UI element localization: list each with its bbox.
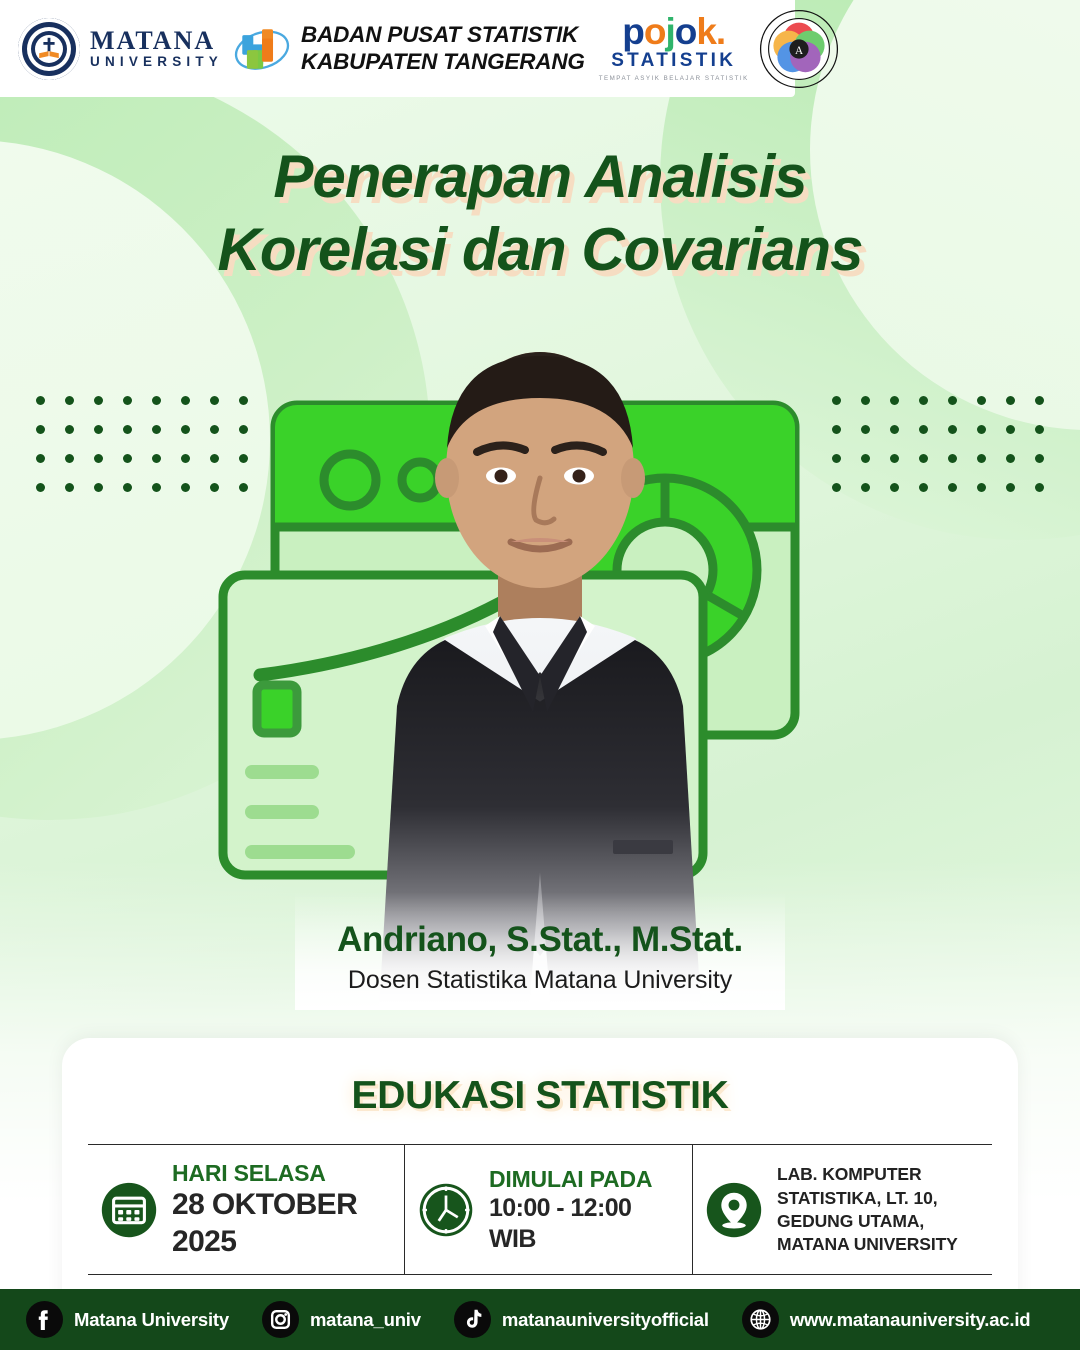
- dot-grid-left: [36, 396, 248, 492]
- bps-wordmark: BADAN PUSAT STATISTIK KABUPATEN TANGERAN…: [301, 22, 585, 74]
- pojok-statistik-logo: pojok. STATISTIK TEMPAT ASYIK BELAJAR ST…: [599, 15, 749, 82]
- footer-social-bar: Matana University matana_univ matana: [0, 1289, 1080, 1350]
- event-location-line3: GEDUNG UTAMA,: [777, 1210, 958, 1233]
- speaker-name: Andriano, S.Stat., M.Stat.: [0, 920, 1080, 960]
- speaker-name-block: Andriano, S.Stat., M.Stat. Dosen Statist…: [0, 920, 1080, 995]
- poster-title-line2: Korelasi dan Covarians: [0, 213, 1080, 286]
- event-location-text: LAB. KOMPUTER STATISTIKA, LT. 10, GEDUNG…: [777, 1163, 958, 1255]
- bps-logo-icon: [233, 20, 291, 78]
- bps-wordmark-line2: KABUPATEN TANGERANG: [301, 49, 585, 75]
- facebook-handle[interactable]: Matana University: [74, 1309, 229, 1331]
- event-year-value: 2025: [172, 1224, 357, 1261]
- matana-wordmark-line1: MATANA: [90, 28, 223, 54]
- tiktok-handle[interactable]: matanauniversityofficial: [502, 1309, 709, 1331]
- matana-wordmark: MATANA UNIVERSITY: [90, 28, 223, 69]
- event-time-value: 10:00 - 12:00 WIB: [489, 1193, 680, 1254]
- matana-wordmark-line2: UNIVERSITY: [90, 55, 223, 69]
- dot-grid-right: [832, 396, 1044, 492]
- speaker-photo: [295, 320, 785, 1010]
- social-website[interactable]: www.matanauniversity.ac.id: [742, 1301, 1031, 1338]
- event-date-text: HARI SELASA 28 OKTOBER 2025: [172, 1159, 357, 1260]
- globe-icon[interactable]: [742, 1301, 779, 1338]
- speaker-role: Dosen Statistika Matana University: [0, 966, 1080, 995]
- location-pin-icon: [705, 1181, 763, 1239]
- pojok-wordmark: pojok.: [599, 15, 749, 49]
- poster-title-line1: Penerapan Analisis: [0, 140, 1080, 213]
- event-day-label: HARI SELASA: [172, 1159, 357, 1187]
- bps-wordmark-line1: BADAN PUSAT STATISTIK: [301, 22, 585, 48]
- matana-university-seal-icon: [18, 18, 80, 80]
- social-instagram[interactable]: matana_univ: [262, 1301, 421, 1338]
- header-logo-bar: MATANA UNIVERSITY BADAN PUSAT STATISTIK …: [0, 0, 795, 97]
- poster-canvas: MATANA UNIVERSITY BADAN PUSAT STATISTIK …: [0, 0, 1080, 1350]
- instagram-icon[interactable]: [262, 1301, 299, 1338]
- poster-title: Penerapan Analisis Korelasi dan Covarian…: [0, 140, 1080, 286]
- event-location-column: LAB. KOMPUTER STATISTIKA, LT. 10, GEDUNG…: [693, 1145, 992, 1274]
- event-category-title: EDUKASI STATISTIK: [62, 1074, 1018, 1118]
- event-time-text: DIMULAI PADA 10:00 - 12:00 WIB: [489, 1165, 680, 1254]
- anastasis-logo-icon: A: [759, 9, 839, 89]
- pojok-tagline: TEMPAT ASYIK BELAJAR STATISTIK: [599, 75, 749, 82]
- instagram-handle[interactable]: matana_univ: [310, 1309, 421, 1331]
- event-location-line4: MATANA UNIVERSITY: [777, 1233, 958, 1256]
- pojok-statistik-label: STATISTIK: [599, 50, 749, 72]
- clock-icon: [417, 1181, 475, 1239]
- event-time-column: DIMULAI PADA 10:00 - 12:00 WIB: [404, 1145, 693, 1274]
- social-tiktok[interactable]: matanauniversityofficial: [454, 1301, 709, 1338]
- event-time-label: DIMULAI PADA: [489, 1165, 680, 1193]
- svg-text:A: A: [795, 44, 803, 56]
- event-location-line2: STATISTIKA, LT. 10,: [777, 1187, 958, 1210]
- event-date-column: HARI SELASA 28 OKTOBER 2025: [88, 1145, 404, 1274]
- website-handle[interactable]: www.matanauniversity.ac.id: [790, 1309, 1031, 1331]
- event-date-value: 28 OKTOBER: [172, 1187, 357, 1224]
- calendar-icon: [100, 1181, 158, 1239]
- social-facebook[interactable]: Matana University: [26, 1301, 229, 1338]
- event-info-row: HARI SELASA 28 OKTOBER 2025: [88, 1144, 992, 1275]
- tiktok-icon[interactable]: [454, 1301, 491, 1338]
- event-location-line1: LAB. KOMPUTER: [777, 1163, 958, 1186]
- facebook-icon[interactable]: [26, 1301, 63, 1338]
